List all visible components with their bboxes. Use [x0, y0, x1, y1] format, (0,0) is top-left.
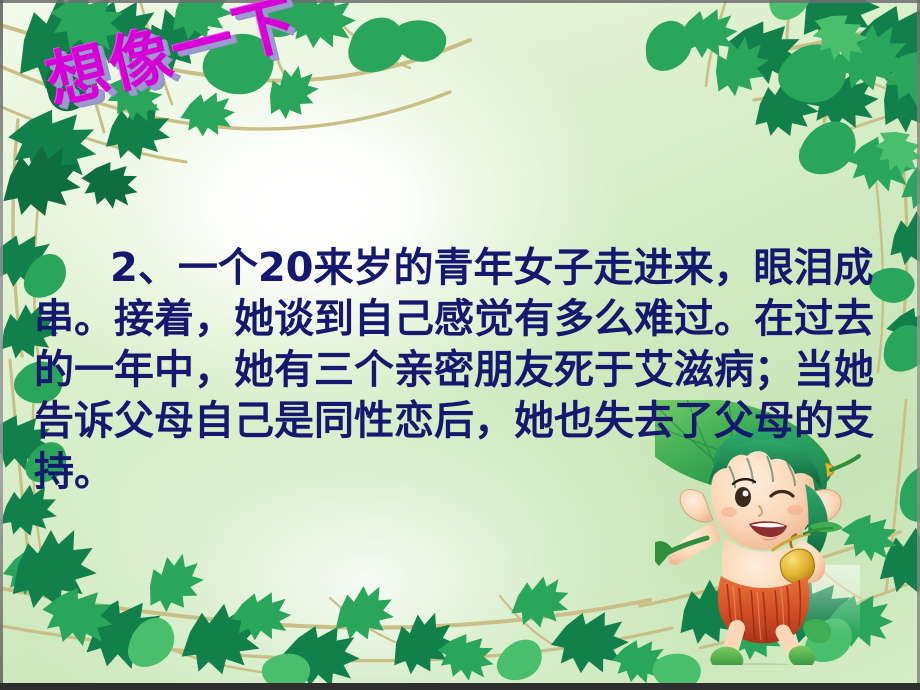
footer-dark-bar	[0, 683, 920, 690]
slide-canvas: 想像一下 2、一个20来岁的青年女子走进来，眼泪成串。接着，她谈到自己感觉有多么…	[0, 0, 920, 690]
slide-body-text: 2、一个20来岁的青年女子走进来，眼泪成串。接着，她谈到自己感觉有多么难过。在过…	[34, 243, 890, 498]
border-top-line	[0, 0, 920, 3]
border-left-line	[0, 0, 3, 690]
